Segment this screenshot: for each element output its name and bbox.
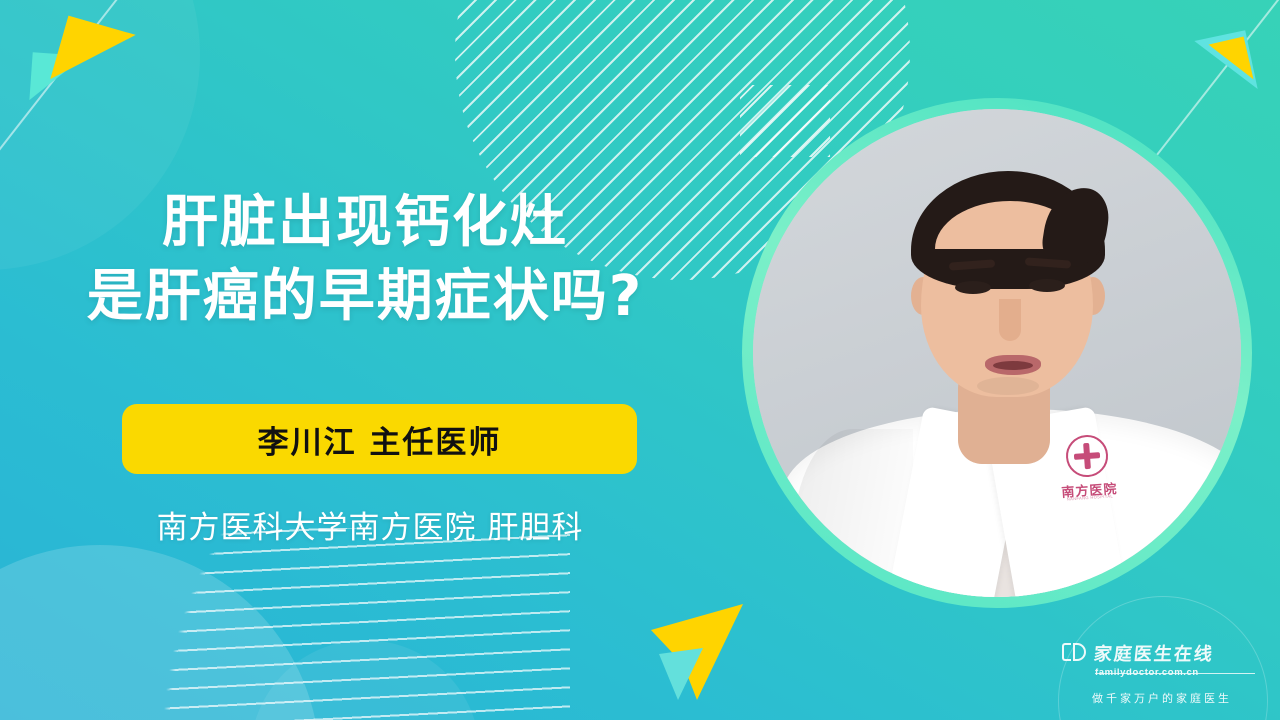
title-line-2: 是肝癌的早期症状吗?: [0, 260, 730, 334]
video-thumbnail-card: 南方医院 NANFANG HOSPITAL 肝脏出现钙化灶 是肝癌的早期症状吗?…: [0, 0, 1280, 720]
watermark-brand-label: 家庭医生在线: [1093, 640, 1216, 666]
watermark: 家庭医生在线 familydoctor.com.cn 做千家万户的家庭医生: [1062, 640, 1262, 708]
mouth-inner: [993, 361, 1033, 370]
arrow-shape-bottom-center: [645, 600, 765, 705]
hospital-logo-icon: 南方医院 NANFANG HOSPITAL: [1051, 433, 1126, 508]
chin-shadow: [977, 377, 1039, 395]
doctor-portrait: 南方医院 NANFANG HOSPITAL: [742, 98, 1252, 608]
doctor-name-badge: 李川江 主任医师: [122, 404, 637, 474]
watermark-divider: [1095, 673, 1255, 674]
watermark-tagline: 做千家万户的家庭医生: [1062, 690, 1262, 706]
eye-right: [1029, 279, 1065, 292]
nose: [999, 299, 1021, 341]
horizontal-stripes-bottom-left: [0, 528, 570, 720]
title-line-1: 肝脏出现钙化灶: [0, 186, 730, 260]
familydoctor-logo-icon: [1062, 641, 1088, 665]
doctor-name-label: 李川江 主任医师: [258, 417, 502, 462]
portrait-photo: 南方医院 NANFANG HOSPITAL: [753, 109, 1241, 597]
eye-left: [955, 281, 991, 294]
watermark-brand-row: 家庭医生在线: [1062, 640, 1262, 666]
page-title: 肝脏出现钙化灶 是肝癌的早期症状吗?: [0, 186, 730, 334]
affiliation-label: 南方医科大学南方医院 肝胆科: [0, 502, 740, 547]
